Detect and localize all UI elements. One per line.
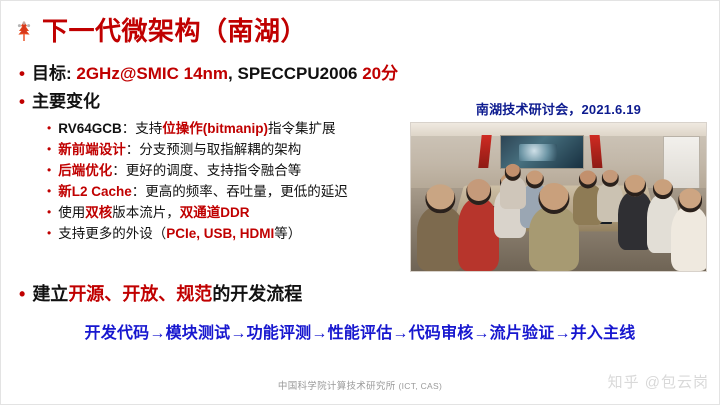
main-changes-label: 主要变化	[32, 91, 100, 113]
flow-step-7: 并入主线	[571, 325, 636, 342]
l2cache-desc: ：更高的频率、吞吐量，更低的延迟	[132, 184, 348, 199]
maple-leaf-ornament-icon	[13, 19, 35, 43]
slide-title-row: 下一代微架构（南湖）	[13, 18, 307, 44]
dualchannel-red: 双通道	[180, 205, 221, 220]
arrow-icon: →	[554, 325, 570, 342]
peripherals-tail: 等）	[274, 226, 301, 241]
dualcore-tail: 版本流片，	[112, 205, 180, 220]
process-standard: 规范	[176, 284, 212, 304]
ddr-label: DDR	[220, 205, 249, 220]
footer-org-en: (ICT, CAS)	[398, 381, 442, 391]
backend-desc: ：更好的调度、支持指令融合等	[112, 163, 301, 178]
flow-step-1: 开发代码	[85, 325, 150, 342]
rv64gcb-lead: RV64GCB	[58, 121, 122, 136]
bullet-dot-icon: •	[19, 283, 25, 306]
l2cache-lead: 新L2 Cache	[58, 184, 132, 199]
flow-step-6: 流片验证	[490, 325, 555, 342]
frontend-desc: ：分支预测与取指解耦的架构	[126, 142, 302, 157]
sub-bullet-dot-icon: •	[47, 182, 51, 201]
seminar-group-photo	[410, 122, 707, 272]
sub-bullet-dot-icon: •	[47, 161, 51, 180]
arrow-icon: →	[473, 325, 489, 342]
process-prefix: 建立	[32, 284, 68, 304]
frontend-lead: 新前端设计	[58, 142, 126, 157]
bullet-goal: • 目标: 2GHz@SMIC 14nm, SPECCPU2006 20分	[19, 63, 709, 85]
sub-bullet-dot-icon: •	[47, 140, 51, 159]
goal-value-score: 20分	[362, 64, 398, 83]
flow-step-4: 性能评估	[328, 325, 393, 342]
dualcore-red: 双核	[85, 205, 112, 220]
flow-step-2: 模块测试	[166, 325, 231, 342]
rv64gcb-tail: 指令集扩展	[268, 121, 336, 136]
backend-lead: 后端优化	[58, 163, 112, 178]
seminar-photo-block: 南湖技术研讨会，2021.6.19	[410, 99, 707, 272]
arrow-icon: →	[392, 325, 408, 342]
sub-bullet-dot-icon: •	[47, 119, 51, 138]
development-flow: 开发代码→模块测试→功能评测→性能评估→代码审核→流片验证→并入主线	[1, 319, 719, 343]
rv64gcb-bitmanip: 位操作(bitmanip)	[162, 121, 268, 136]
process-open-source: 开源、	[68, 284, 122, 304]
photo-caption: 南湖技术研讨会，2021.6.19	[410, 99, 707, 118]
bullet-dot-icon: •	[19, 91, 25, 113]
process-suffix: 的开发流程	[212, 284, 302, 304]
process-open: 开放、	[122, 284, 176, 304]
bullet-dev-process: • 建立开源、开放、规范的开发流程	[19, 283, 302, 306]
goal-value-benchmark: , SPECCPU2006	[228, 64, 362, 83]
presentation-slide: 下一代微架构（南湖） • 目标: 2GHz@SMIC 14nm, SPECCPU…	[0, 0, 720, 405]
arrow-icon: →	[230, 325, 246, 342]
arrow-icon: →	[149, 325, 165, 342]
peripherals-lead: 支持更多的外设（	[58, 226, 166, 241]
peripherals-list: PCIe, USB, HDMI	[166, 226, 274, 241]
arrow-icon: →	[311, 325, 327, 342]
page-title: 下一代微架构（南湖）	[42, 18, 307, 44]
dualcore-lead: 使用	[58, 205, 85, 220]
goal-label: 目标:	[32, 64, 72, 83]
sub-bullet-dot-icon: •	[47, 224, 51, 243]
footer-org-cn: 中国科学院计算技术研究所	[278, 381, 396, 392]
rv64gcb-sep: ：支持	[122, 121, 163, 136]
flow-step-5: 代码审核	[409, 325, 474, 342]
flow-step-3: 功能评测	[247, 325, 312, 342]
sub-bullet-dot-icon: •	[47, 203, 51, 222]
goal-value-frequency: 2GHz@SMIC 14nm	[76, 64, 228, 83]
watermark: 知乎 @包云岗	[608, 371, 709, 392]
bullet-dot-icon: •	[19, 63, 25, 85]
